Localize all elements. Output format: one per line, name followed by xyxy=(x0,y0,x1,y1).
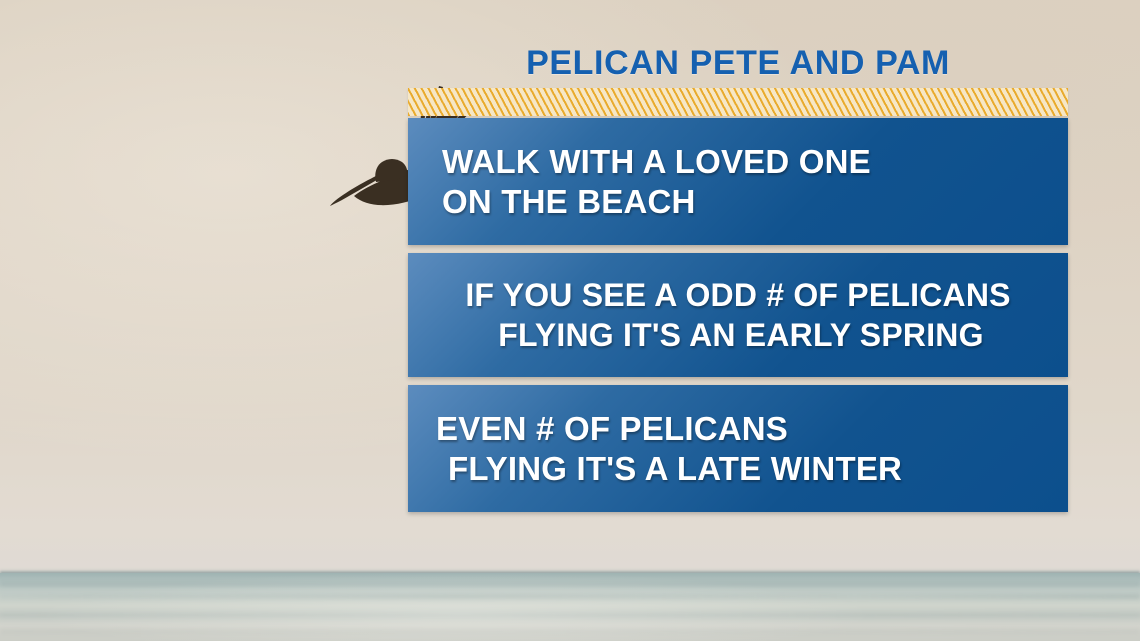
info-box-1: WALK WITH A LOVED ONE ON THE BEACH xyxy=(408,118,1068,245)
info-box-3-line-2: FLYING IT'S A LATE WINTER xyxy=(436,449,1038,489)
gold-accent-bar xyxy=(408,88,1068,116)
info-box-3: EVEN # OF PELICANS FLYING IT'S A LATE WI… xyxy=(408,385,1068,512)
info-box-2-line-1: IF YOU SEE A ODD # OF PELICANS xyxy=(414,275,1062,315)
info-box-1-line-1: WALK WITH A LOVED ONE xyxy=(442,142,1038,182)
info-box-2: IF YOU SEE A ODD # OF PELICANS FLYING IT… xyxy=(408,253,1068,377)
info-box-1-line-2: ON THE BEACH xyxy=(442,182,1038,222)
broadcast-graphic-screenshot: PELICAN PETE AND PAM WALK WITH A LOVED O… xyxy=(0,0,1140,641)
info-box-3-line-1: EVEN # OF PELICANS xyxy=(436,409,1038,449)
page-title: PELICAN PETE AND PAM xyxy=(408,44,1068,82)
info-box-2-line-2: FLYING IT'S AN EARLY SPRING xyxy=(414,315,1062,355)
ocean-sheen-overlay xyxy=(0,573,1140,641)
